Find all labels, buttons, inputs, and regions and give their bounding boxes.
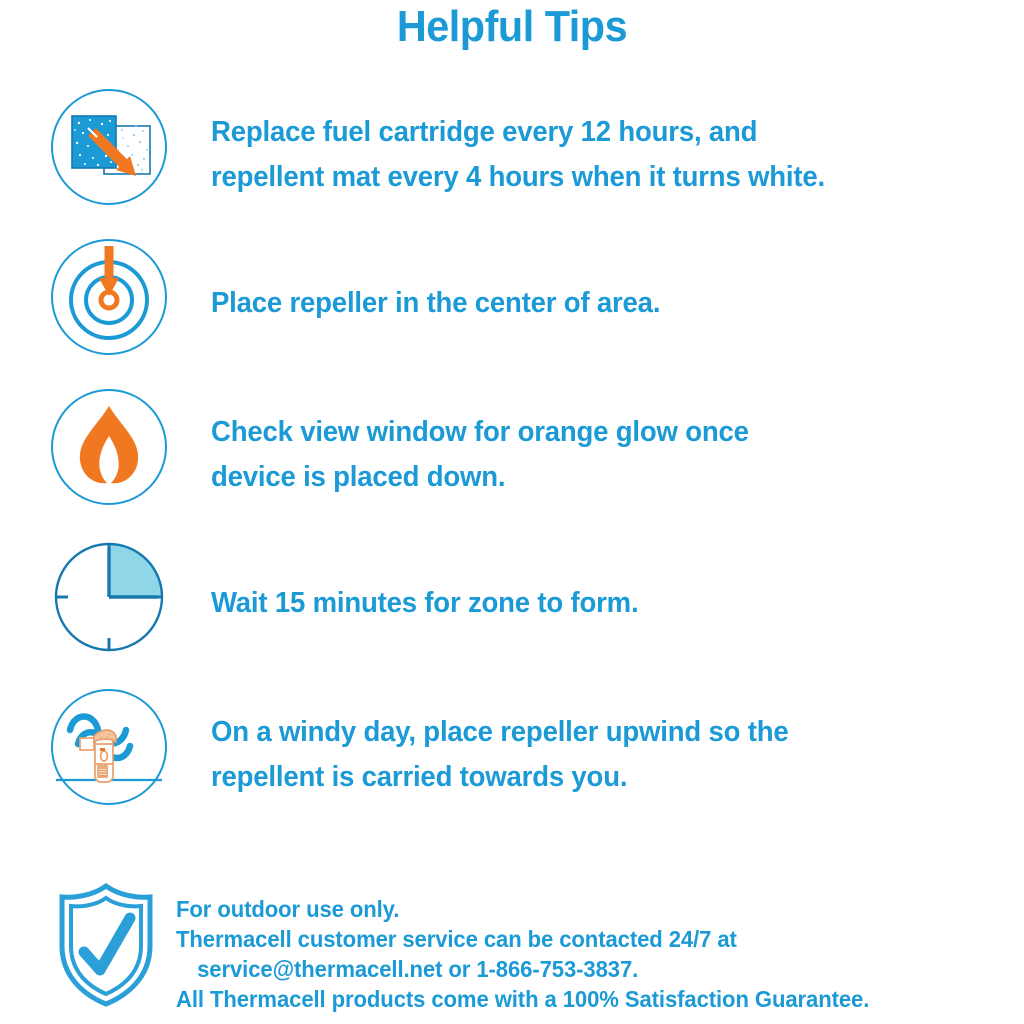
tip-item: Place repeller in the center of area. [0, 238, 1024, 388]
footer: For outdoor use only. Thermacell custome… [0, 880, 1024, 1014]
footer-line: All Thermacell products come with a 100%… [176, 984, 869, 1014]
clock-15-minutes-icon [50, 538, 168, 656]
footer-line: Thermacell customer service can be conta… [176, 924, 869, 954]
tip-item: On a windy day, place repeller upwind so… [0, 688, 1024, 838]
tip-text: Replace fuel cartridge every 12 hours, a… [211, 88, 825, 200]
tip-text: Place repeller in the center of area. [211, 238, 660, 326]
tip-line: repellent is carried towards you. [211, 755, 788, 800]
tips-list: Replace fuel cartridge every 12 hours, a… [0, 88, 1024, 838]
tip-item: Replace fuel cartridge every 12 hours, a… [0, 88, 1024, 238]
target-center-icon [50, 238, 168, 356]
tip-text: On a windy day, place repeller upwind so… [211, 688, 788, 800]
shield-check-icon [52, 880, 160, 1010]
footer-text: For outdoor use only. Thermacell custome… [176, 880, 869, 1014]
tip-line: Wait 15 minutes for zone to form. [211, 581, 638, 626]
tip-line: device is placed down. [211, 455, 749, 500]
helpful-tips-page: Helpful Tips [0, 0, 1024, 1024]
flame-icon [50, 388, 168, 506]
mat-replace-icon [50, 88, 168, 206]
tip-line: Place repeller in the center of area. [211, 281, 660, 326]
tip-item: Check view window for orange glow once d… [0, 388, 1024, 538]
page-title: Helpful Tips [31, 2, 994, 52]
tip-line: repellent mat every 4 hours when it turn… [211, 155, 825, 200]
tip-item: Wait 15 minutes for zone to form. [0, 538, 1024, 688]
tip-text: Check view window for orange glow once d… [211, 388, 749, 500]
tip-line: Check view window for orange glow once [211, 410, 749, 455]
wind-repeller-icon [50, 688, 168, 806]
footer-line: service@thermacell.net or 1-866-753-3837… [176, 954, 869, 984]
tip-line: On a windy day, place repeller upwind so… [211, 710, 788, 755]
tip-line: Replace fuel cartridge every 12 hours, a… [211, 110, 825, 155]
footer-line: For outdoor use only. [176, 894, 869, 924]
tip-text: Wait 15 minutes for zone to form. [211, 538, 638, 626]
